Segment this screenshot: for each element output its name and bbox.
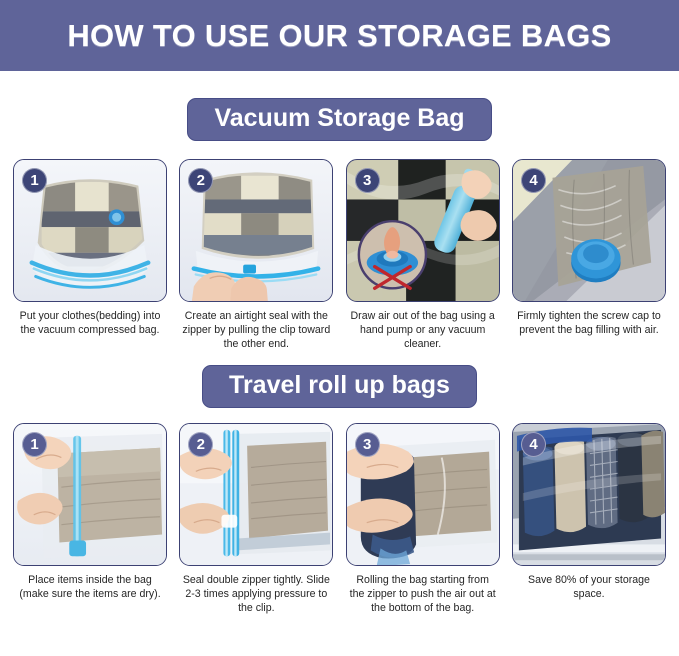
section-title-vacuum-storage-bag: Vacuum Storage Bag — [187, 98, 491, 141]
vacuum-steps-row: 1 Put your clothes(bedding) into the vac… — [0, 159, 679, 351]
step-image-vacuum-1: 1 — [13, 159, 167, 302]
step-card-vacuum-1: 1 Put your clothes(bedding) into the vac… — [13, 159, 167, 351]
step-card-travel-1: 1 Place items inside the bag (make sure … — [13, 423, 167, 615]
step-number-badge: 4 — [521, 168, 546, 193]
step-number-badge: 3 — [355, 432, 380, 457]
step-number-badge: 3 — [355, 168, 380, 193]
step-caption-travel-3: Rolling the bag starting from the zipper… — [345, 566, 501, 615]
step-card-travel-4: 4 Save 80% of your storage space. — [512, 423, 666, 615]
page-title: HOW TO USE OUR STORAGE BAGS — [67, 18, 611, 54]
section-header-vacuum: Vacuum Storage Bag — [0, 98, 679, 141]
step-card-travel-3: 3 Rolling the bag starting from the zipp… — [346, 423, 500, 615]
step-card-vacuum-4: 4 Firmly tighten the screw cap to preven… — [512, 159, 666, 351]
step-image-travel-4: 4 — [512, 423, 666, 566]
step-caption-vacuum-4: Firmly tighten the screw cap to prevent … — [511, 302, 667, 337]
step-image-vacuum-4: 4 — [512, 159, 666, 302]
step-image-vacuum-2: 2 — [179, 159, 333, 302]
page-header-banner: HOW TO USE OUR STORAGE BAGS — [0, 0, 679, 71]
step-caption-travel-1: Place items inside the bag (make sure th… — [12, 566, 168, 601]
step-caption-travel-4: Save 80% of your storage space. — [511, 566, 667, 601]
step-caption-vacuum-1: Put your clothes(bedding) into the vacuu… — [12, 302, 168, 337]
step-image-travel-3: 3 — [346, 423, 500, 566]
step-image-travel-2: 2 — [179, 423, 333, 566]
section-header-travel: Travel roll up bags — [0, 365, 679, 408]
travel-steps-row: 1 Place items inside the bag (make sure … — [0, 423, 679, 615]
section-title-travel-roll-up-bags: Travel roll up bags — [202, 365, 477, 408]
step-card-travel-2: 2 Seal double zipper tightly. Slide 2-3 … — [179, 423, 333, 615]
step-image-vacuum-3: 3 — [346, 159, 500, 302]
step-number-badge: 1 — [22, 168, 47, 193]
step-card-vacuum-3: 3 Draw air out of the bag using a hand p… — [346, 159, 500, 351]
step-image-travel-1: 1 — [13, 423, 167, 566]
step-caption-vacuum-2: Create an airtight seal with the zipper … — [178, 302, 334, 351]
step-card-vacuum-2: 2 Create an airtight seal with the zippe… — [179, 159, 333, 351]
step-caption-travel-2: Seal double zipper tightly. Slide 2-3 ti… — [178, 566, 334, 615]
step-caption-vacuum-3: Draw air out of the bag using a hand pum… — [345, 302, 501, 351]
